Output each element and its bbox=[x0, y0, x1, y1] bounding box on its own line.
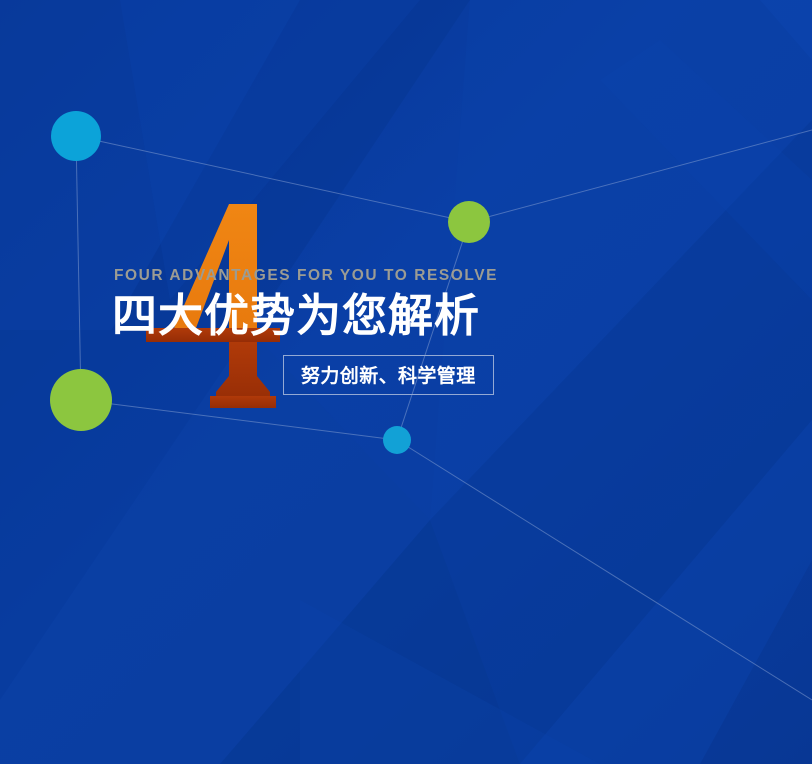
link-extension-bottom-right bbox=[397, 440, 812, 700]
node-green-right bbox=[448, 201, 490, 243]
link-green-bottom-left-to-cyan-bottom bbox=[81, 400, 397, 440]
link-cyan-top-to-green-bottom-left bbox=[76, 136, 81, 400]
headline-block: FOUR ADVANTAGES FOR YOU TO RESOLVE 四大优势为… bbox=[112, 268, 772, 399]
promo-banner: FOUR ADVANTAGES FOR YOU TO RESOLVE 四大优势为… bbox=[0, 0, 812, 764]
node-green-bottom-left bbox=[50, 369, 112, 431]
link-cyan-top-to-green-right bbox=[76, 136, 469, 222]
node-cyan-top-left bbox=[51, 111, 101, 161]
page-title: 四大优势为您解析 bbox=[112, 293, 772, 338]
node-cyan-bottom bbox=[383, 426, 411, 454]
tagline-row: 努力创新、科学管理 bbox=[112, 355, 772, 399]
tagline-badge: 努力创新、科学管理 bbox=[283, 355, 494, 395]
link-extension-top-right bbox=[469, 130, 812, 222]
eyebrow-text: FOUR ADVANTAGES FOR YOU TO RESOLVE bbox=[114, 268, 772, 284]
